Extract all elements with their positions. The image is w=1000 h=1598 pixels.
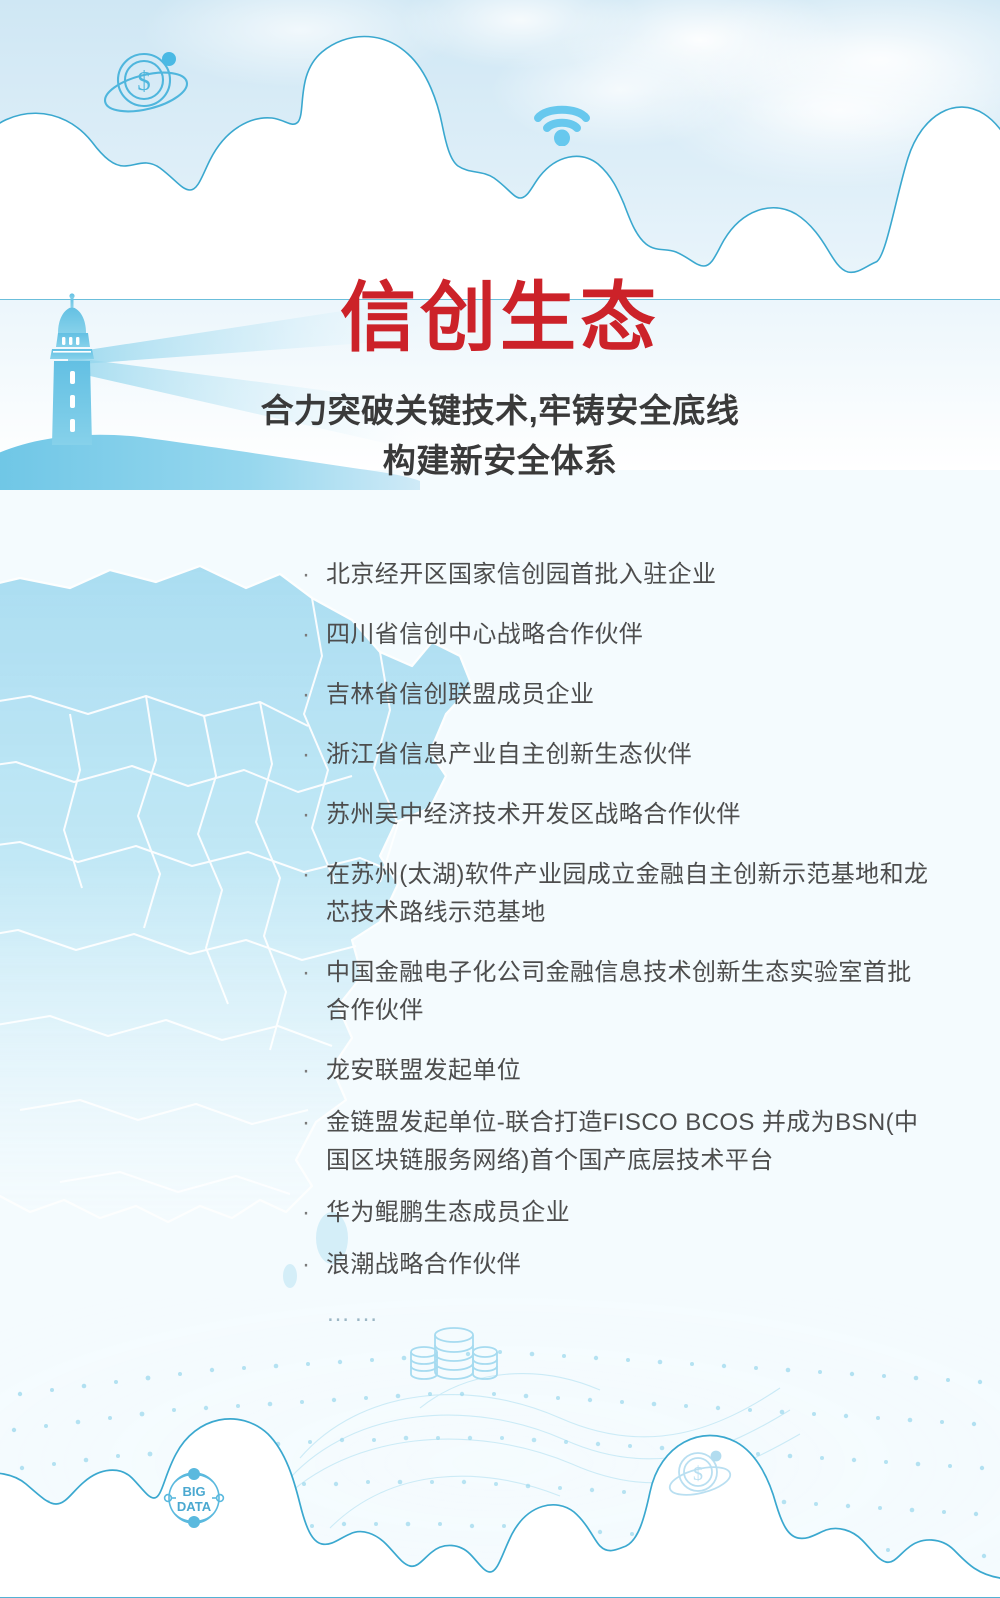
list-item: · 在苏州(太湖)软件产业园成立金融自主创新示范基地和龙芯技术路线示范基地 xyxy=(300,856,930,932)
page-title: 信创生态 xyxy=(0,276,1000,362)
bullet-marker: · xyxy=(302,1104,310,1142)
list-item-label: 吉林省信创联盟成员企业 xyxy=(326,681,594,708)
list-item-label: 龙安联盟发起单位 xyxy=(326,1057,521,1084)
page-subtitle: 合力突破关键技术,牢铸安全底线 构建新安全体系 xyxy=(0,386,1000,486)
list-item-label: 苏州吴中经济技术开发区战略合作伙伴 xyxy=(326,801,741,828)
list-item-label: 在苏州(太湖)软件产业园成立金融自主创新示范基地和龙芯技术路线示范基地 xyxy=(326,861,928,926)
bullet-marker: · xyxy=(302,1246,310,1284)
list-item-label: 四川省信创中心战略合作伙伴 xyxy=(326,621,643,648)
subtitle-line-2: 构建新安全体系 xyxy=(0,436,1000,486)
list-item: · 浪潮战略合作伙伴 xyxy=(300,1246,930,1284)
bullet-marker: · xyxy=(302,954,310,992)
list-item: · 苏州吴中经济技术开发区战略合作伙伴 xyxy=(300,796,930,834)
poster-canvas: $ xyxy=(0,0,1000,1598)
list-item: · 北京经开区国家信创园首批入驻企业 xyxy=(300,556,930,594)
credentials-list: · 北京经开区国家信创园首批入驻企业 · 四川省信创中心战略合作伙伴 · 吉林省… xyxy=(300,556,930,1330)
list-item: · 吉林省信创联盟成员企业 xyxy=(300,676,930,714)
list-ellipsis: …… xyxy=(300,1298,930,1330)
list-item: · 中国金融电子化公司金融信息技术创新生态实验室首批合作伙伴 xyxy=(300,954,930,1030)
subtitle-line-1: 合力突破关键技术,牢铸安全底线 xyxy=(261,392,740,429)
bullet-marker: · xyxy=(302,1194,310,1232)
bullet-marker: · xyxy=(302,556,310,594)
list-item-label: 中国金融电子化公司金融信息技术创新生态实验室首批合作伙伴 xyxy=(326,959,912,1024)
list-item-label: 金链盟发起单位-联合打造FISCO BCOS 并成为BSN(中国区块链服务网络)… xyxy=(326,1109,918,1174)
list-item: · 华为鲲鹏生态成员企业 xyxy=(300,1194,930,1232)
list-item: · 四川省信创中心战略合作伙伴 xyxy=(300,616,930,654)
bullet-marker: · xyxy=(302,616,310,654)
list-item-label: 浪潮战略合作伙伴 xyxy=(326,1251,521,1278)
bullet-marker: · xyxy=(302,856,310,894)
list-item-label: 华为鲲鹏生态成员企业 xyxy=(326,1199,570,1226)
poster-content: 信创生态 合力突破关键技术,牢铸安全底线 构建新安全体系 · 北京经开区国家信创… xyxy=(0,0,1000,1598)
list-item-label: 北京经开区国家信创园首批入驻企业 xyxy=(326,561,716,588)
bullet-marker: · xyxy=(302,796,310,834)
bullet-marker: · xyxy=(302,736,310,774)
list-item: · 金链盟发起单位-联合打造FISCO BCOS 并成为BSN(中国区块链服务网… xyxy=(300,1104,930,1180)
list-item: · 浙江省信息产业自主创新生态伙伴 xyxy=(300,736,930,774)
list-item: · 龙安联盟发起单位 xyxy=(300,1052,930,1090)
list-item-label: 浙江省信息产业自主创新生态伙伴 xyxy=(326,741,692,768)
bullet-marker: · xyxy=(302,1052,310,1090)
bullet-marker: · xyxy=(302,676,310,714)
